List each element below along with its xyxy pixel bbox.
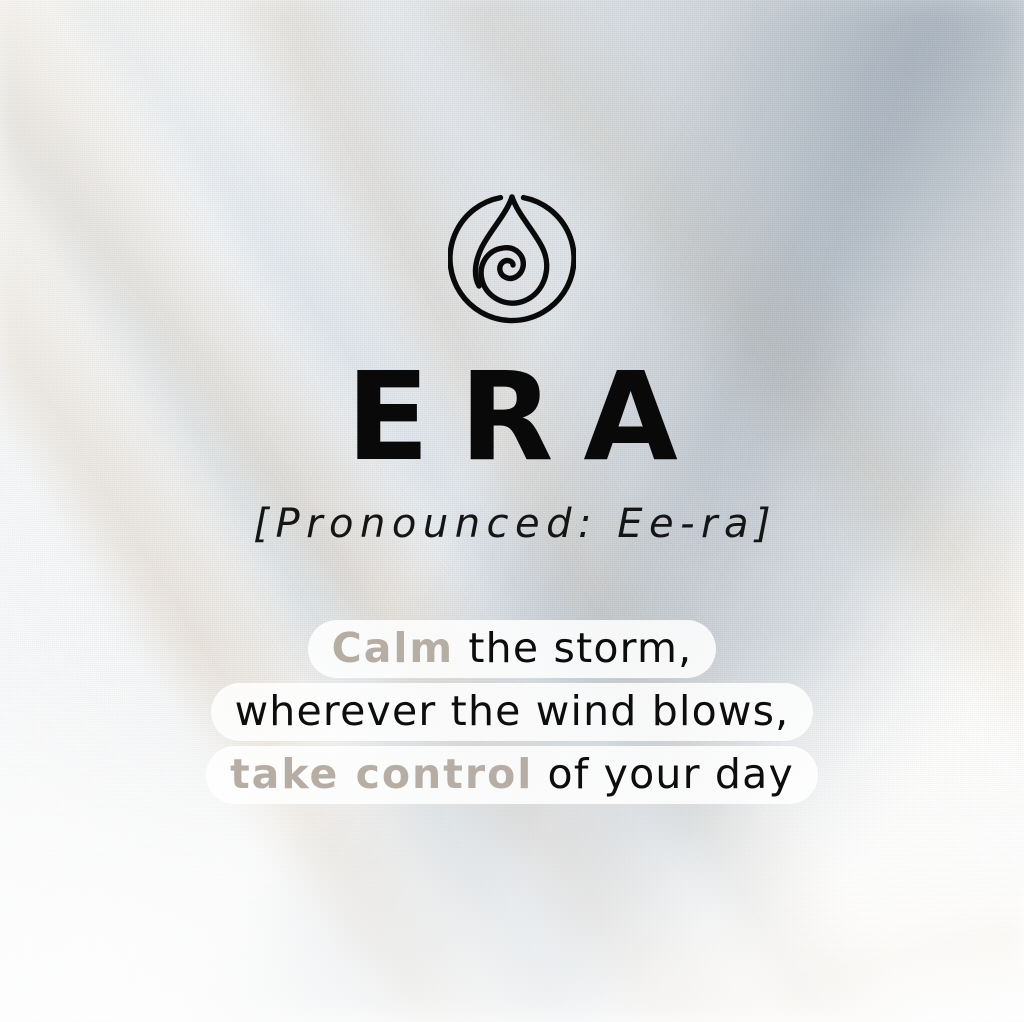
tagline-accent-calm: Calm	[332, 624, 455, 672]
tagline-line-2: wherever the wind blows,	[211, 683, 814, 741]
tagline-rest-1: the storm,	[454, 624, 692, 672]
tagline-line-3: take control of your day	[206, 746, 818, 804]
tagline-rest-3: of your day	[533, 750, 794, 798]
tagline-rest-2: wherever the wind blows,	[235, 687, 790, 735]
tagline-block: Calm the storm, wherever the wind blows,…	[0, 620, 1024, 804]
brand-logo	[0, 193, 1024, 325]
tagline-accent-take-control: take control	[230, 750, 533, 798]
era-water-droplet-spiral-logo	[448, 193, 576, 325]
card-content: ERA [Pronounced: Ee-ra] Calm the storm, …	[0, 0, 1024, 1022]
pronunciation-text: [Pronounced: Ee-ra]	[0, 500, 1024, 548]
page-title: ERA	[0, 356, 1024, 478]
era-brand-card: ERA [Pronounced: Ee-ra] Calm the storm, …	[0, 0, 1024, 1022]
tagline-line-1: Calm the storm,	[308, 620, 717, 678]
